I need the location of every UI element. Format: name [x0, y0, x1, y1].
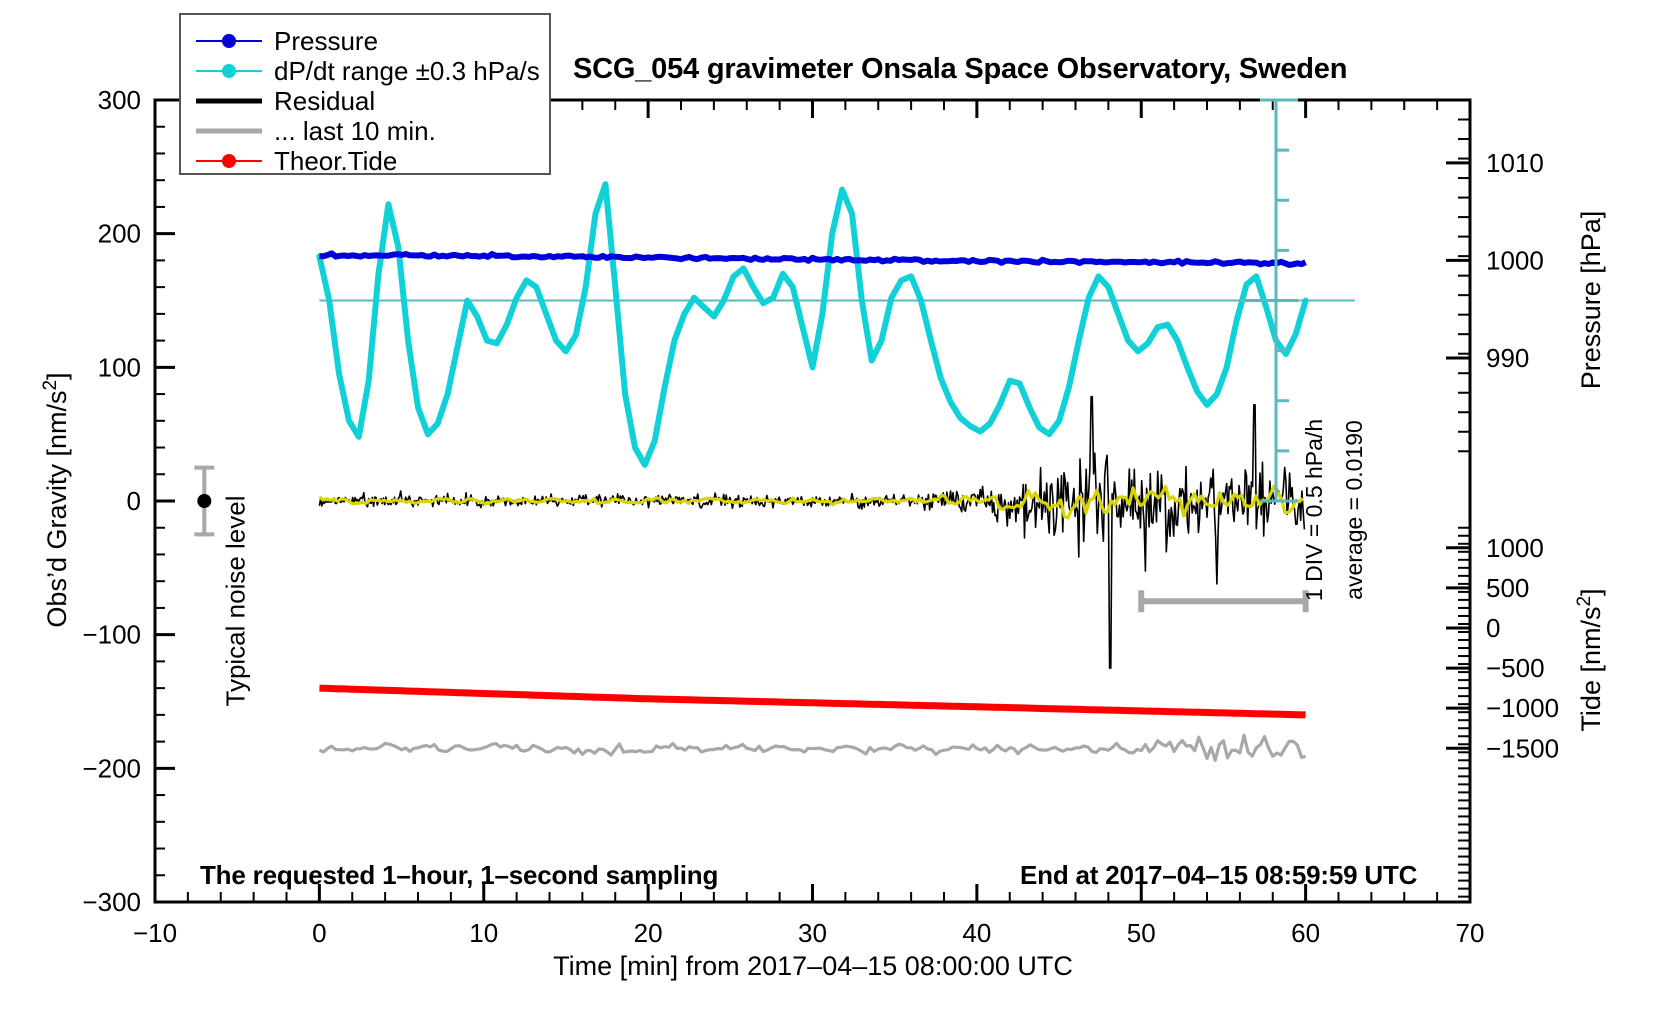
y-right-tide-tick-label: 500: [1486, 573, 1529, 603]
y-axis-right-pressure-title: Pressure [hPa]: [1576, 211, 1606, 390]
x-tick-label: 20: [634, 918, 663, 948]
y-left-tick-label: 300: [98, 85, 141, 115]
y-left-tick-label: −300: [82, 887, 141, 917]
legend: PressuredP/dt range ±0.3 hPa/sResidual..…: [180, 14, 550, 176]
y-left-title-tail: ]: [42, 372, 72, 380]
svg-text:Tide [nm/s2]: Tide [nm/s2]: [1574, 588, 1606, 731]
x-tick-label: 50: [1127, 918, 1156, 948]
footer-right-note: End at 2017–04–15 08:59:59 UTC: [1020, 860, 1418, 890]
y-axis-right-tide-title: Tide [nm/s2]: [1574, 588, 1606, 731]
dpdt-div-label: 1 DIV = 0.5 hPa/h: [1301, 419, 1327, 601]
y-right-tide-tick-label: 1000: [1486, 533, 1544, 563]
x-tick-label: −10: [133, 918, 177, 948]
y-right-tide-tick-label: −1000: [1486, 693, 1559, 723]
dpdt-average-label: average = 0.0190: [1341, 420, 1367, 600]
x-tick-label: 70: [1456, 918, 1485, 948]
y-right-tide-tick-label: 0: [1486, 613, 1500, 643]
typical-noise-level-label: Typical noise level: [220, 496, 250, 707]
x-tick-label: 10: [469, 918, 498, 948]
y-right-pressure-tick-label: 1010: [1486, 148, 1544, 178]
gravimeter-plot: −10010203040506070 3002001000−100−200−30…: [0, 0, 1676, 1020]
legend-marker-0: [222, 34, 236, 48]
y-right-tide-title-main: Tide [nm/s: [1576, 607, 1606, 732]
figure-root: −10010203040506070 3002001000−100−200−30…: [0, 0, 1676, 1020]
y-left-title-sup: 2: [40, 380, 61, 391]
x-tick-label: 40: [962, 918, 991, 948]
legend-label-3: ... last 10 min.: [274, 116, 436, 146]
x-axis-title: Time [min] from 2017–04–15 08:00:00 UTC: [553, 951, 1073, 981]
y-left-tick-label: 200: [98, 219, 141, 249]
y-left-tick-label: 0: [127, 486, 141, 516]
y-left-tick-label: 100: [98, 352, 141, 382]
y-right-pressure-tick-label: 1000: [1486, 245, 1544, 275]
legend-marker-1: [222, 64, 236, 78]
legend-label-0: Pressure: [274, 26, 378, 56]
y-left-title-main: Obs’d Gravity [nm/s: [42, 391, 72, 628]
y-right-tide-tick-label: −1500: [1486, 733, 1559, 763]
plot-title: SCG_054 gravimeter Onsala Space Observat…: [573, 53, 1347, 85]
y-axis-left-title: Obs’d Gravity [nm/s2]: [40, 372, 72, 627]
y-left-tick-label: −200: [82, 753, 141, 783]
x-tick-label: 60: [1291, 918, 1320, 948]
legend-label-1: dP/dt range ±0.3 hPa/s: [274, 56, 540, 86]
y-right-tide-title-tail: ]: [1576, 588, 1606, 596]
y-right-tide-title-sup: 2: [1574, 596, 1595, 607]
footer-left-note: The requested 1–hour, 1–second sampling: [200, 860, 718, 890]
y-right-tide-tick-label: −500: [1486, 653, 1545, 683]
x-tick-label: 30: [798, 918, 827, 948]
y-left-tick-label: −100: [82, 620, 141, 650]
legend-label-4: Theor.Tide: [274, 146, 397, 176]
legend-marker-4: [222, 154, 236, 168]
svg-text:Obs’d Gravity [nm/s2]: Obs’d Gravity [nm/s2]: [40, 372, 72, 627]
legend-label-2: Residual: [274, 86, 375, 116]
x-tick-label: 0: [312, 918, 326, 948]
y-right-pressure-tick-label: 990: [1486, 343, 1529, 373]
